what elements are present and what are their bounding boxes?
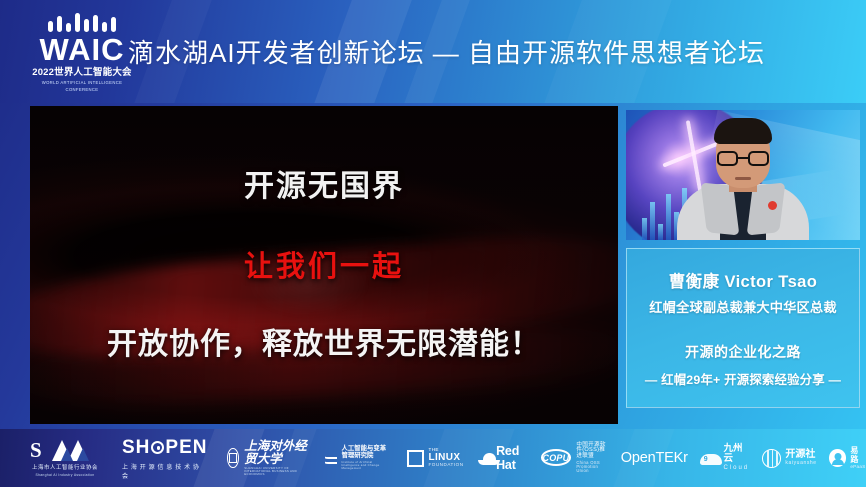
sam-peak-notch [77, 448, 89, 461]
glasses-icon [717, 151, 769, 166]
waic-en-subtitle: WORLD ARTIFICIAL INTELLIGENCE CONFERENCE [26, 79, 137, 92]
speaker-name: 曹衡康 Victor Tsao [669, 268, 817, 292]
kaiyuanshe-cn-name: 开源社 [785, 450, 816, 460]
shopen-ring-icon [151, 441, 164, 454]
presentation-slide: 开源无国界 让我们一起 开放协作，释放世界无限潜能！ [30, 106, 618, 424]
cloud-icon: 9 [700, 450, 721, 466]
epaas-en-name: ePaaS [850, 464, 866, 470]
footer-logo-linux-foundation: THE LINUX FOUNDATION [407, 448, 463, 467]
airi-en-name: Institute of Artificial Intelligence and… [341, 461, 391, 470]
speaker-mouth [735, 177, 751, 180]
talk-title: 开源的企业化之路 [685, 342, 801, 362]
waic-wordmark: WAIC [24, 34, 140, 66]
waic-logo-dots [24, 12, 140, 32]
footer-logo-jiuzhou-cloud: 9 九州云 Cloud [700, 444, 751, 472]
footer-logo-opentekr: OpenTEKr [621, 450, 688, 466]
speaker-video-feed[interactable] [626, 110, 860, 240]
sam-en-name: Shanghai AI Industry Association [36, 473, 95, 477]
speaker-lapel-pin [768, 201, 777, 210]
event-header: WAIC 2022世界人工智能大会 WORLD ARTIFICIAL INTEL… [0, 0, 866, 103]
broadcast-stage: WAIC 2022世界人工智能大会 WORLD ARTIFICIAL INTEL… [0, 0, 866, 487]
talk-subtitle: — 红帽29年+ 开源探索经验分享 — [645, 370, 841, 388]
red-hat-fedora-icon [478, 452, 493, 465]
speaker-figure [673, 128, 813, 240]
waic-logo: WAIC 2022世界人工智能大会 WORLD ARTIFICIAL INTEL… [24, 12, 140, 92]
slide-line-2-highlight: 让我们一起 [244, 243, 404, 285]
opentekr-wordmark: OpenTEKr [621, 450, 688, 466]
forum-title: 滴水湖AI开发者创新论坛 — 自由开源软件思想者论坛 [128, 0, 765, 103]
shopen-wordmark: SHPEN [122, 437, 207, 459]
sam-peak-notch [61, 448, 73, 461]
slide-text-block: 开源无国界 让我们一起 开放协作，释放世界无限潜能！ [30, 106, 618, 424]
copu-oval-icon: COPU [541, 449, 572, 466]
jiuzhou-cn-name: 九州云 [723, 444, 750, 464]
epaas-avatar-icon [829, 449, 847, 467]
airi-cn-name: 人工智能与变革管理研究院 [341, 446, 391, 459]
sponsor-footer: S 上海市人工智能行业协会 Shanghai AI Industry Assoc… [0, 429, 866, 487]
speaker-job-title: 红帽全球副总裁兼大中华区总裁 [649, 297, 836, 316]
kaiyuanshe-circle-icon [762, 449, 781, 468]
wave-icon [325, 450, 337, 466]
sisu-cn-name: 上海对外经贸大学 [244, 440, 309, 465]
jiuzhou-en-name: Cloud [723, 464, 750, 472]
footer-logo-epaas: 易路 ePaaS [829, 446, 866, 470]
slide-line-1: 开源无国界 [244, 161, 404, 205]
university-seal-icon [227, 448, 239, 468]
copu-cn-name: 中国开源软件(OSS)推进联盟 [576, 443, 608, 460]
linux-foundation-box-icon [407, 450, 424, 467]
footer-logo-red-hat: Red Hat [478, 444, 527, 472]
footer-logo-sisu: 上海对外经贸大学 SHANGHAI UNIVERSITY OF INTERNAT… [227, 440, 309, 476]
footer-logo-shopen: SHPEN 上 海 开 源 信 息 技 术 协 会 [122, 437, 207, 480]
sam-cn-name: 上海市人工智能行业协会 [32, 463, 98, 471]
speaker-info-panel: 曹衡康 Victor Tsao 红帽全球副总裁兼大中华区总裁 开源的企业化之路 … [626, 248, 860, 408]
epaas-cn-name: 易路 [850, 446, 866, 464]
slide-line-3: 开放协作，释放世界无限潜能！ [107, 319, 541, 363]
speaker-hair [714, 118, 772, 144]
red-hat-wordmark: Red Hat [496, 444, 526, 472]
footer-logo-airi: 人工智能与变革管理研究院 Institute of Artificial Int… [325, 446, 391, 470]
sam-letter-s: S [30, 440, 42, 461]
footer-logo-copu: COPU 中国开源软件(OSS)推进联盟 China OSS Promotion… [541, 443, 609, 474]
copu-en-name: China OSS Promotion Union [576, 461, 608, 474]
sam-mark-icon: S [30, 439, 100, 461]
shopen-cn-name: 上 海 开 源 信 息 技 术 协 会 [122, 462, 207, 480]
sisu-en-name: SHANGHAI UNIVERSITY OF INTERNATIONAL BUS… [244, 467, 309, 476]
footer-logo-sam: S 上海市人工智能行业协会 Shanghai AI Industry Assoc… [30, 439, 100, 477]
lf-foundation: FOUNDATION [428, 463, 463, 468]
footer-logo-kaiyuanshe: 开源社 kaiyuanshe [762, 449, 816, 468]
kaiyuanshe-en-name: kaiyuanshe [785, 460, 816, 467]
waic-cn-subtitle: 2022世界人工智能大会 [24, 67, 140, 79]
